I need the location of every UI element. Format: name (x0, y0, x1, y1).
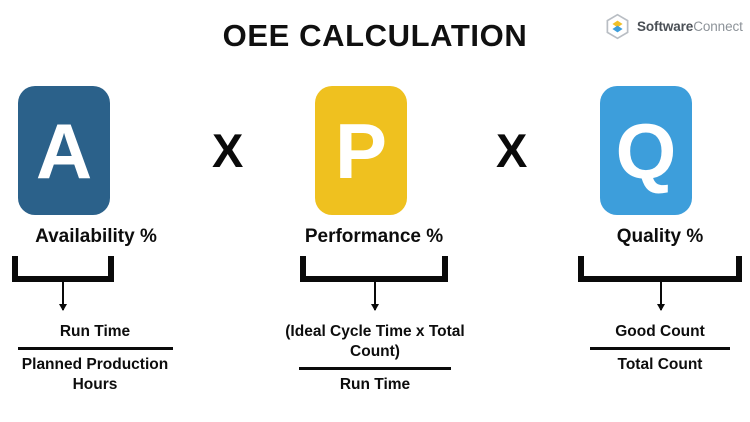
factor-label-availability: Availability % (8, 226, 184, 248)
bracket-performance (300, 256, 448, 282)
fraction-numerator: Run Time (0, 322, 190, 344)
arrow-performance (374, 282, 376, 310)
software-connect-hexagon-icon (604, 13, 631, 40)
fraction-denominator: Total Count (570, 354, 750, 375)
fraction-bar (18, 347, 173, 350)
brand-name-light: Connect (693, 19, 743, 34)
multiply-operator-1: X (212, 127, 243, 174)
factor-tile-availability: A (18, 86, 110, 215)
bracket-availability (12, 256, 114, 282)
arrow-quality (660, 282, 662, 310)
fraction-quality: Good Count Total Count (570, 322, 750, 375)
factor-label-performance: Performance % (286, 226, 462, 248)
fraction-denominator: Planned Production Hours (0, 354, 190, 395)
factor-label-quality: Quality % (572, 226, 748, 248)
brand-name: SoftwareConnect (637, 19, 743, 34)
factor-tile-quality: Q (600, 86, 692, 215)
fraction-numerator: (Ideal Cycle Time x Total Count) (282, 322, 468, 364)
brand-logo: SoftwareConnect (604, 13, 743, 40)
fraction-denominator: Run Time (282, 374, 468, 395)
factor-tile-performance: P (315, 86, 407, 215)
multiply-operator-2: X (496, 127, 527, 174)
arrow-availability (62, 282, 64, 310)
fraction-performance: (Ideal Cycle Time x Total Count) Run Tim… (282, 322, 468, 394)
fraction-availability: Run Time Planned Production Hours (0, 322, 190, 394)
fraction-bar (299, 367, 451, 370)
brand-name-bold: Software (637, 19, 693, 34)
bracket-quality (578, 256, 742, 282)
fraction-numerator: Good Count (570, 322, 750, 344)
fraction-bar (590, 347, 730, 350)
